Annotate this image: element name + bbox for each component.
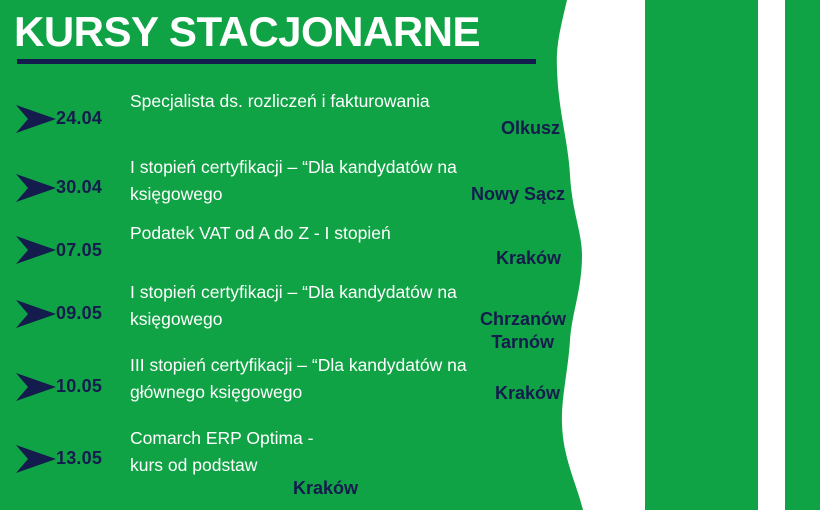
course-title-line: Specjalista ds. rozliczeń i fakturowania (130, 88, 530, 115)
course-date: 09.05 (56, 303, 116, 324)
course-location: Nowy Sącz (471, 184, 565, 205)
course-title-line: Podatek VAT od A do Z - I stopień (130, 220, 530, 247)
page-title: KURSY STACJONARNE (14, 6, 480, 58)
course-title-line: I stopień certyfikacji – “Dla kandydatów… (130, 279, 530, 306)
course-list: 24.04Specjalista ds. rozliczeń i fakturo… (0, 83, 600, 510)
course-location: Kraków (495, 383, 560, 404)
course-title-line: kurs od podstaw (130, 452, 530, 479)
arrow-right-icon (16, 299, 56, 329)
course-location: Kraków (293, 478, 358, 499)
arrow-right-icon (16, 372, 56, 402)
course-date: 07.05 (56, 240, 116, 261)
green-bar-wide (645, 0, 758, 510)
arrow-right-icon (16, 444, 56, 474)
poster-content: KURSY STACJONARNE 24.04Specjalista ds. r… (0, 0, 600, 510)
course-location: Olkusz (501, 118, 560, 139)
course-date: 13.05 (56, 448, 116, 469)
course-date: 24.04 (56, 108, 116, 129)
course-title: I stopień certyfikacji – “Dla kandydatów… (130, 279, 530, 333)
poster-canvas: KURSY STACJONARNE 24.04Specjalista ds. r… (0, 0, 820, 510)
course-row[interactable]: 24.04Specjalista ds. rozliczeń i fakturo… (0, 83, 600, 155)
arrow-right-icon (16, 173, 56, 203)
arrow-right-icon (16, 104, 56, 134)
green-bar-narrow (785, 0, 820, 510)
course-date: 10.05 (56, 376, 116, 397)
course-date: 30.04 (56, 177, 116, 198)
arrow-right-icon (16, 235, 56, 265)
course-location: Tarnów (491, 332, 554, 353)
course-title-line: III stopień certyfikacji – “Dla kandydat… (130, 352, 530, 379)
course-row[interactable]: 30.04I stopień certyfikacji – “Dla kandy… (0, 155, 600, 227)
course-title: Specjalista ds. rozliczeń i fakturowania (130, 88, 530, 115)
course-title-line: głównego księgowego (130, 379, 530, 406)
course-location: Chrzanów (480, 309, 566, 330)
course-title-line: Comarch ERP Optima - (130, 425, 530, 452)
course-row[interactable]: 07.05Podatek VAT od A do Z - I stopieńKr… (0, 227, 600, 285)
course-location: Kraków (496, 248, 561, 269)
course-title: Podatek VAT od A do Z - I stopień (130, 220, 530, 247)
course-title: Comarch ERP Optima -kurs od podstaw (130, 425, 530, 479)
title-underline (17, 59, 536, 64)
course-row[interactable]: 13.05Comarch ERP Optima -kurs od podstaw… (0, 435, 600, 510)
course-title-line: I stopień certyfikacji – “Dla kandydatów… (130, 154, 530, 181)
course-title-line: księgowego (130, 306, 530, 333)
course-title: III stopień certyfikacji – “Dla kandydat… (130, 352, 530, 406)
